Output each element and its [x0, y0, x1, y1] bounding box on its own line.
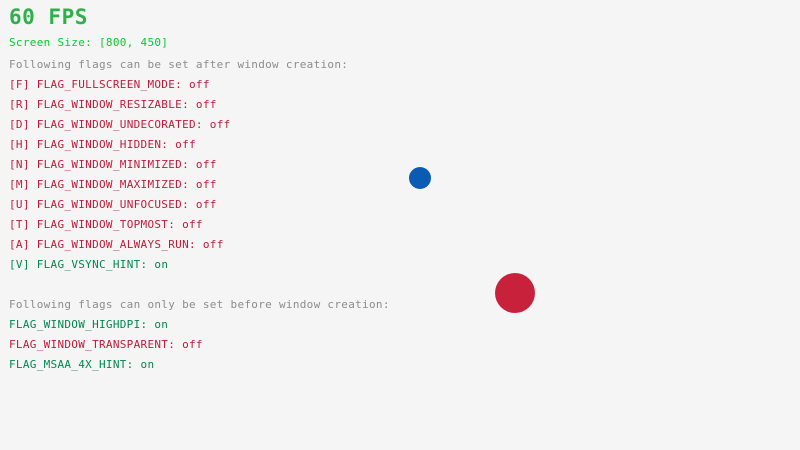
flag-state-value: off — [196, 158, 217, 171]
screen-size-label: Screen Size: [800, 450] — [9, 37, 168, 49]
flag-state-value: off — [203, 238, 224, 251]
flag-name: FLAG_WINDOW_HIGHDPI: — [9, 318, 154, 331]
flag-name: FLAG_WINDOW_TRANSPARENT: — [9, 338, 182, 351]
flag-state-value: off — [175, 138, 196, 151]
flag-state-value: on — [141, 358, 155, 371]
flag-state-value: off — [196, 178, 217, 191]
flag-row-flag_window_hidden[interactable]: [H] FLAG_WINDOW_HIDDEN: off — [9, 139, 196, 151]
blue-ball-icon — [409, 167, 431, 189]
flag-shortcut-key: [N] — [9, 158, 37, 171]
flag-row-flag_window_transparent[interactable]: FLAG_WINDOW_TRANSPARENT: off — [9, 339, 203, 351]
flag-shortcut-key: [F] — [9, 78, 37, 91]
flag-row-flag_window_resizable[interactable]: [R] FLAG_WINDOW_RESIZABLE: off — [9, 99, 217, 111]
flag-row-flag_window_maximized[interactable]: [M] FLAG_WINDOW_MAXIMIZED: off — [9, 179, 217, 191]
flag-state-value: on — [154, 318, 168, 331]
section-heading-before-creation: Following flags can only be set before w… — [9, 299, 390, 311]
flag-state-value: off — [182, 338, 203, 351]
flag-state-value: on — [154, 258, 168, 271]
flag-name: FLAG_WINDOW_UNFOCUSED: — [37, 198, 196, 211]
flag-state-value: off — [189, 78, 210, 91]
flag-name: FLAG_WINDOW_MINIMIZED: — [37, 158, 196, 171]
raylib-window-canvas[interactable]: 60 FPS Screen Size: [800, 450] Following… — [0, 0, 800, 450]
flag-state-value: off — [196, 198, 217, 211]
flag-name: FLAG_WINDOW_HIDDEN: — [37, 138, 175, 151]
flag-name: FLAG_WINDOW_MAXIMIZED: — [37, 178, 196, 191]
flag-row-flag_window_unfocused[interactable]: [U] FLAG_WINDOW_UNFOCUSED: off — [9, 199, 217, 211]
flag-state-value: off — [196, 98, 217, 111]
flag-state-value: off — [210, 118, 231, 131]
flag-row-flag_window_topmost[interactable]: [T] FLAG_WINDOW_TOPMOST: off — [9, 219, 203, 231]
flag-shortcut-key: [M] — [9, 178, 37, 191]
flag-state-value: off — [182, 218, 203, 231]
flag-shortcut-key: [U] — [9, 198, 37, 211]
flag-shortcut-key: [R] — [9, 98, 37, 111]
flag-row-flag_vsync_hint[interactable]: [V] FLAG_VSYNC_HINT: on — [9, 259, 168, 271]
flag-shortcut-key: [T] — [9, 218, 37, 231]
flag-row-flag_window_minimized[interactable]: [N] FLAG_WINDOW_MINIMIZED: off — [9, 159, 217, 171]
fps-counter: 60 FPS — [9, 6, 88, 28]
flag-shortcut-key: [H] — [9, 138, 37, 151]
flag-name: FLAG_WINDOW_RESIZABLE: — [37, 98, 196, 111]
flag-shortcut-key: [V] — [9, 258, 37, 271]
flag-name: FLAG_WINDOW_TOPMOST: — [37, 218, 182, 231]
flag-shortcut-key: [A] — [9, 238, 37, 251]
flag-name: FLAG_WINDOW_UNDECORATED: — [37, 118, 210, 131]
flag-shortcut-key: [D] — [9, 118, 37, 131]
section-heading-after-creation: Following flags can be set after window … — [9, 59, 348, 71]
flag-row-flag_window_always_run[interactable]: [A] FLAG_WINDOW_ALWAYS_RUN: off — [9, 239, 224, 251]
red-ball-icon — [495, 273, 535, 313]
flag-row-flag_window_highdpi[interactable]: FLAG_WINDOW_HIGHDPI: on — [9, 319, 168, 331]
flag-name: FLAG_FULLSCREEN_MODE: — [37, 78, 189, 91]
flag-name: FLAG_WINDOW_ALWAYS_RUN: — [37, 238, 203, 251]
flag-name: FLAG_VSYNC_HINT: — [37, 258, 155, 271]
flag-row-flag_msaa_4x_hint[interactable]: FLAG_MSAA_4X_HINT: on — [9, 359, 154, 371]
flag-row-flag_window_undecorated[interactable]: [D] FLAG_WINDOW_UNDECORATED: off — [9, 119, 231, 131]
flag-name: FLAG_MSAA_4X_HINT: — [9, 358, 141, 371]
flag-row-flag_fullscreen_mode[interactable]: [F] FLAG_FULLSCREEN_MODE: off — [9, 79, 210, 91]
